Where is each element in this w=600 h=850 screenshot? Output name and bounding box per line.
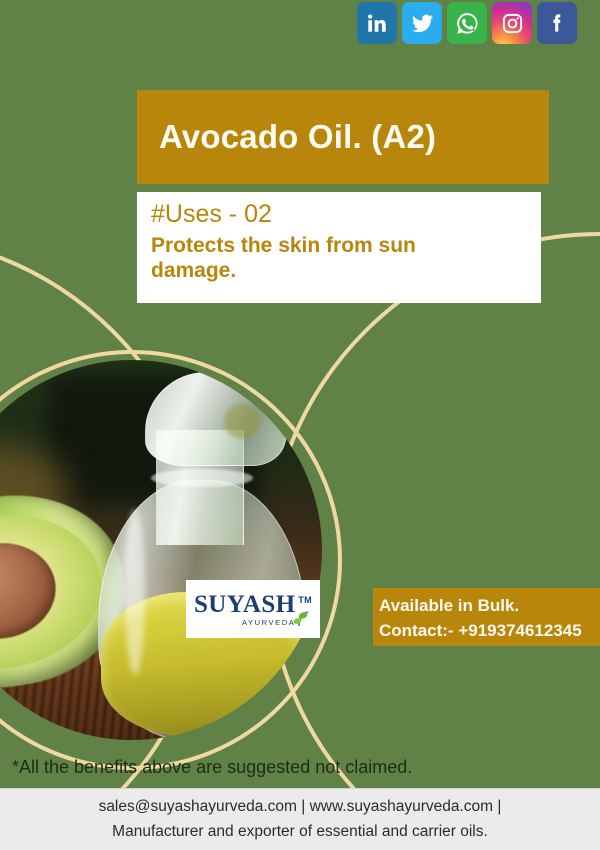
bottle-spout-hole — [224, 404, 260, 439]
uses-box: #Uses - 02 Protects the skin from sun da… — [137, 192, 541, 303]
footer-bar: sales@suyashayurveda.com | www.suyashayu… — [0, 788, 600, 850]
bulk-contact-band: Available in Bulk. Contact:- +9193746123… — [373, 588, 600, 646]
twitter-icon[interactable] — [402, 2, 442, 44]
instagram-icon[interactable] — [492, 2, 532, 44]
oil-bottle — [94, 379, 314, 740]
bottle-highlight — [125, 509, 145, 675]
brand-logo: SUYASH TM AYURVEDA — [186, 580, 320, 638]
uses-text: Protects the skin from sun damage. — [151, 233, 491, 284]
disclaimer-text: *All the benefits above are suggested no… — [12, 757, 412, 778]
brand-logo-text: SUYASH — [194, 591, 296, 618]
title-bar: Avocado Oil. (A2) — [137, 90, 549, 184]
facebook-icon[interactable] — [537, 2, 577, 44]
social-icon-row — [357, 2, 577, 44]
product-photo — [0, 360, 322, 740]
brand-logo-name: SUYASH TM — [194, 592, 320, 617]
page-title: Avocado Oil. (A2) — [159, 118, 436, 156]
bottle-spout — [145, 372, 286, 466]
bulk-contact-text[interactable]: Contact:- +919374612345 — [379, 619, 600, 644]
footer-contact-line[interactable]: sales@suyashayurveda.com | www.suyashayu… — [99, 795, 502, 819]
poster-canvas: SUYASH TM AYURVEDA Avocado Oil. (A2) #Us… — [0, 0, 600, 850]
trademark-symbol: TM — [298, 596, 312, 605]
linkedin-icon[interactable] — [357, 2, 397, 44]
bulk-availability-text: Available in Bulk. — [379, 594, 600, 619]
uses-label: #Uses - 02 — [151, 201, 541, 229]
footer-description-line: Manufacturer and exporter of essential a… — [112, 820, 488, 844]
whatsapp-icon[interactable] — [447, 2, 487, 44]
leaf-icon — [288, 610, 310, 628]
